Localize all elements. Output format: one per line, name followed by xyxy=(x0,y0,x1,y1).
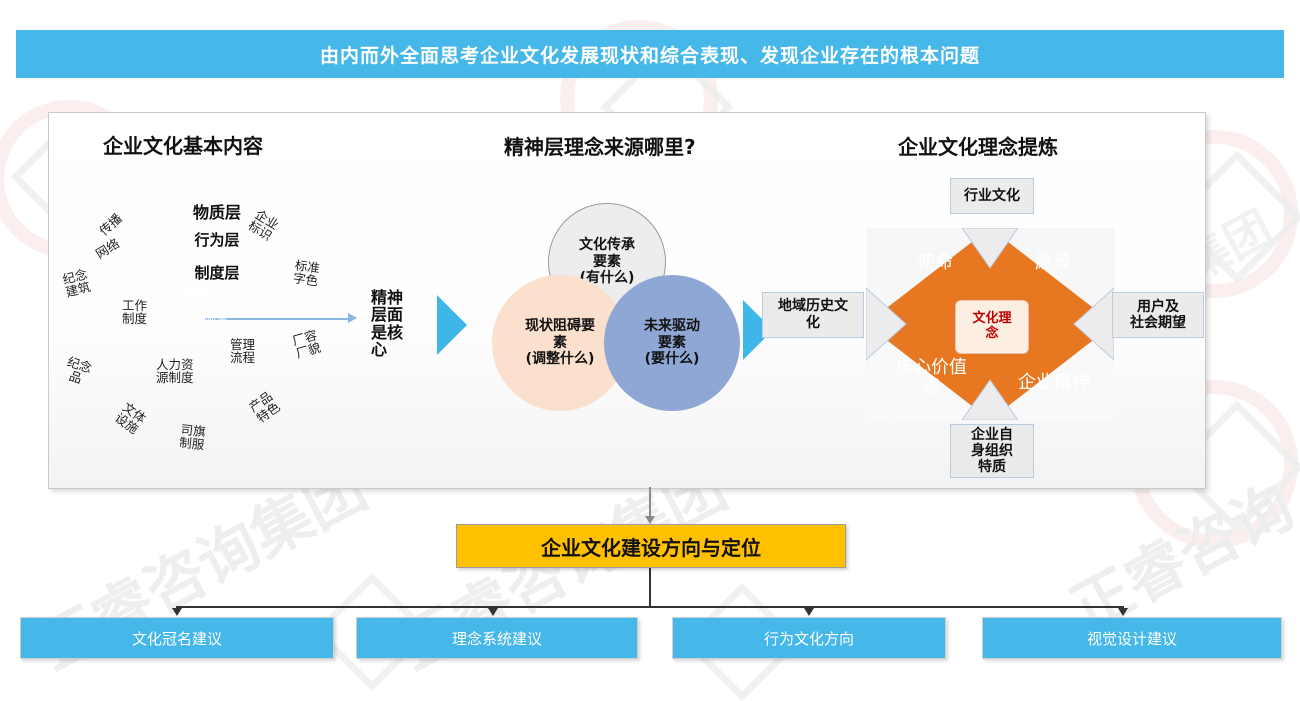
section2-title: 精神层理念来源哪里? xyxy=(504,131,696,160)
page-title: 由内而外全面思考企业文化发展现状和综合表现、发现企业存在的根本问题 xyxy=(320,41,980,68)
output-box-naming[interactable]: 文化冠名建议 xyxy=(20,617,334,659)
quadrant-enterprise-spirit: 企业精神 xyxy=(1008,368,1100,394)
arrowhead-out-1 xyxy=(172,608,182,616)
connector-main-down xyxy=(649,566,651,608)
main-direction-box[interactable]: 企业文化建设方向与定位 xyxy=(456,524,846,568)
output-box-visual-design[interactable]: 视觉设计建议 xyxy=(982,617,1282,659)
core-label-mission-vision: 使命 愿景 xyxy=(166,302,244,314)
venn-right-line3: (要什么) xyxy=(644,351,700,368)
outer-label-flag-uniform: 司旗制服 xyxy=(179,423,207,452)
mid-label-management-process: 管理流程 xyxy=(230,338,255,364)
quadrant-mission: 使命 xyxy=(900,248,970,274)
core-label-spirit: 精神层 xyxy=(166,288,244,302)
output-box-behavior-direction[interactable]: 行为文化方向 xyxy=(672,617,946,659)
venn-right-line2: 要素 xyxy=(644,335,700,352)
input-org-traits: 企业自身组织特质 xyxy=(950,424,1034,478)
input-user-expectation: 用户及社会期望 xyxy=(1112,292,1204,338)
page-title-banner: 由内而外全面思考企业文化发展现状和综合表现、发现企业存在的根本问题 xyxy=(16,30,1284,78)
outer-label-standard-color: 标准字色 xyxy=(292,258,320,287)
mid-label-hr-system: 人力资源制度 xyxy=(156,358,194,384)
venn-left-line3: (调整什么) xyxy=(498,351,622,368)
culture-idea-center: 文化理念 xyxy=(955,300,1029,354)
venn-left-line1: 现状阻碍要 xyxy=(498,318,622,335)
venn-top-line1: 文化传承 xyxy=(579,237,635,254)
callout-spirit-core: 精神层面是核心 xyxy=(371,289,411,358)
quadrant-core-values: 核心价值观 xyxy=(886,358,976,398)
output-box-idea-system[interactable]: 理念系统建议 xyxy=(356,617,638,659)
input-industry-culture: 行业文化 xyxy=(950,178,1034,214)
arrowhead-out-2 xyxy=(488,608,498,616)
quadrant-vision: 愿景 xyxy=(1018,248,1088,274)
arrowhead-out-3 xyxy=(804,608,814,616)
connector-panel-to-main xyxy=(649,487,651,519)
venn-top-line2: 要素 xyxy=(579,254,635,271)
core-callout-arrowhead xyxy=(348,313,357,323)
layer-label-institution: 制度层 xyxy=(162,262,272,283)
arrowhead-to-main xyxy=(645,516,655,524)
core-label-values: 价值观等 xyxy=(166,315,244,327)
input-regional-history: 地域历史文化 xyxy=(762,292,864,338)
arrowhead-out-4 xyxy=(1118,608,1128,616)
mid-label-work-system: 工作制度 xyxy=(122,299,147,325)
venn-circle-future-drivers: 未来驱动 要素 (要什么) xyxy=(604,275,740,411)
flow-arrow-1 xyxy=(437,295,467,355)
connector-horizontal-bus xyxy=(176,606,1124,608)
section1-title: 企业文化基本内容 xyxy=(103,130,263,159)
section3-title: 企业文化理念提炼 xyxy=(898,131,1058,160)
venn-right-line1: 未来驱动 xyxy=(644,318,700,335)
